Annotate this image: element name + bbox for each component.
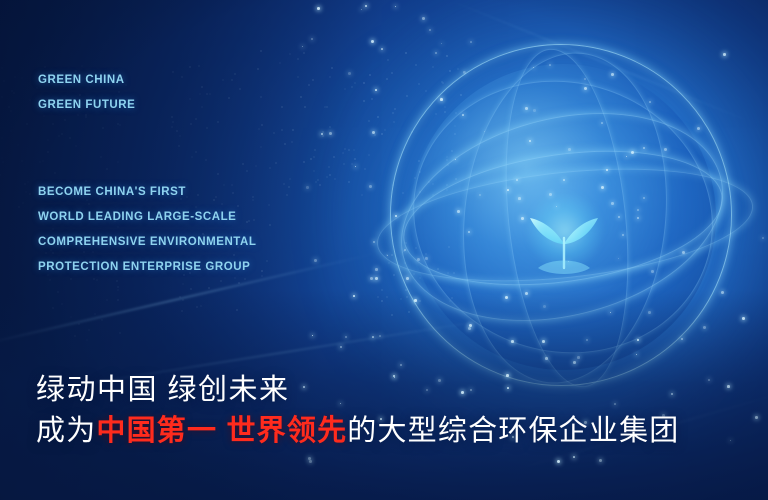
particle xyxy=(414,299,417,302)
particle xyxy=(622,234,624,236)
particle xyxy=(703,326,706,329)
tagline-line-1: GREEN CHINA xyxy=(38,68,256,93)
particle xyxy=(479,194,481,196)
particle xyxy=(308,457,311,460)
particle xyxy=(637,339,639,341)
particle xyxy=(329,132,332,135)
headline-prefix: 成为 xyxy=(36,415,96,447)
particle xyxy=(400,364,402,366)
particle xyxy=(425,257,428,260)
particle xyxy=(340,346,342,348)
particle xyxy=(626,156,627,157)
particle xyxy=(723,53,726,56)
particle xyxy=(611,73,614,76)
particle xyxy=(505,296,508,299)
particle xyxy=(306,186,309,189)
particle xyxy=(533,109,536,112)
particle xyxy=(429,29,431,31)
english-text-block: GREEN CHINA GREEN FUTURE BECOME CHINA'S … xyxy=(38,68,256,280)
particle xyxy=(556,206,557,207)
particle xyxy=(484,131,485,132)
particle xyxy=(404,249,406,251)
particle xyxy=(631,151,634,154)
particle xyxy=(545,357,548,360)
particle xyxy=(365,5,367,7)
particle xyxy=(511,340,514,343)
particle xyxy=(727,385,730,388)
mission-line-3: COMPREHENSIVE ENVIRONMENTAL xyxy=(38,230,256,255)
particle xyxy=(542,340,545,343)
particle xyxy=(549,193,552,196)
particle xyxy=(742,317,745,320)
particle xyxy=(643,147,645,149)
particle xyxy=(648,311,651,314)
particle xyxy=(440,98,443,101)
mission-line-4: PROTECTION ENTERPRISE GROUP xyxy=(38,255,256,280)
particle xyxy=(762,237,764,239)
particle xyxy=(584,78,586,80)
particle xyxy=(518,197,521,200)
particle xyxy=(470,41,472,43)
hero-banner: GREEN CHINA GREEN FUTURE BECOME CHINA'S … xyxy=(0,0,768,500)
particle xyxy=(651,270,654,273)
particle xyxy=(309,460,312,463)
particle xyxy=(311,38,313,40)
particle xyxy=(610,312,611,313)
particle xyxy=(422,17,425,20)
chinese-headline-block: 绿动中国 绿创未来 成为中国第一 世界领先的大型综合环保企业集团 xyxy=(36,370,679,452)
particle xyxy=(525,292,528,295)
particle xyxy=(375,89,377,91)
particle xyxy=(395,6,396,7)
particle xyxy=(681,338,683,340)
particle xyxy=(584,87,587,90)
particle xyxy=(606,169,608,171)
particle xyxy=(516,179,518,181)
particle xyxy=(457,210,460,213)
particle xyxy=(618,216,620,218)
particle xyxy=(406,277,409,280)
particle xyxy=(375,268,378,271)
particle xyxy=(521,217,524,220)
particle xyxy=(529,140,531,142)
particle xyxy=(568,261,569,262)
particle xyxy=(618,258,619,259)
particle xyxy=(302,46,303,47)
particle xyxy=(755,416,758,419)
particle xyxy=(372,336,374,338)
particle xyxy=(543,305,546,308)
particle xyxy=(369,185,372,188)
particle xyxy=(463,71,466,74)
particle xyxy=(573,456,575,458)
particle xyxy=(649,101,651,103)
headline-line-1: 绿动中国 绿创未来 xyxy=(36,370,679,410)
particle xyxy=(599,459,602,462)
particle xyxy=(549,64,551,66)
particle xyxy=(345,336,347,338)
headline-suffix: 的大型综合环保企业集团 xyxy=(347,415,679,447)
particle xyxy=(468,327,471,330)
particle xyxy=(601,186,604,189)
particle xyxy=(573,361,576,364)
particle xyxy=(455,159,456,160)
particle xyxy=(314,259,317,262)
particle xyxy=(395,215,397,217)
particle xyxy=(468,231,470,233)
particle xyxy=(387,255,388,256)
particle xyxy=(563,179,565,181)
particle xyxy=(682,251,685,254)
headline-line-2: 成为中国第一 世界领先的大型综合环保企业集团 xyxy=(36,410,679,452)
particle xyxy=(636,354,637,355)
particle xyxy=(355,166,356,167)
particle xyxy=(586,339,588,341)
particle xyxy=(435,52,437,54)
particle xyxy=(664,148,667,151)
tagline-line-2: GREEN FUTURE xyxy=(38,93,256,118)
particle xyxy=(381,48,383,50)
particle xyxy=(721,291,724,294)
particle xyxy=(348,72,351,75)
particle xyxy=(637,209,639,211)
particle xyxy=(525,107,528,110)
particle xyxy=(730,440,731,441)
particle xyxy=(708,379,710,381)
particle xyxy=(370,277,373,280)
particle xyxy=(372,131,375,134)
particle xyxy=(312,335,313,336)
particle xyxy=(697,127,700,130)
particle xyxy=(611,202,614,205)
particle xyxy=(643,197,645,199)
mission-line-2: WORLD LEADING LARGE-SCALE xyxy=(38,205,256,230)
particle xyxy=(375,277,378,280)
particle xyxy=(533,67,534,68)
particle xyxy=(371,40,374,43)
particle xyxy=(469,324,472,327)
particle xyxy=(361,9,362,10)
particle xyxy=(568,148,571,151)
headline-highlight: 中国第一 世界领先 xyxy=(96,415,347,447)
particle xyxy=(417,258,420,261)
particle xyxy=(317,7,320,10)
particle xyxy=(507,189,509,191)
particle xyxy=(379,335,381,337)
particle xyxy=(373,241,375,243)
particle xyxy=(441,43,442,44)
particle xyxy=(557,460,560,463)
particle xyxy=(601,122,603,124)
particle xyxy=(321,133,323,135)
text-spacer xyxy=(38,118,256,180)
particle xyxy=(577,356,580,359)
particle xyxy=(637,217,639,219)
particle xyxy=(353,295,355,297)
particle xyxy=(462,114,464,116)
mission-line-1: BECOME CHINA'S FIRST xyxy=(38,180,256,205)
